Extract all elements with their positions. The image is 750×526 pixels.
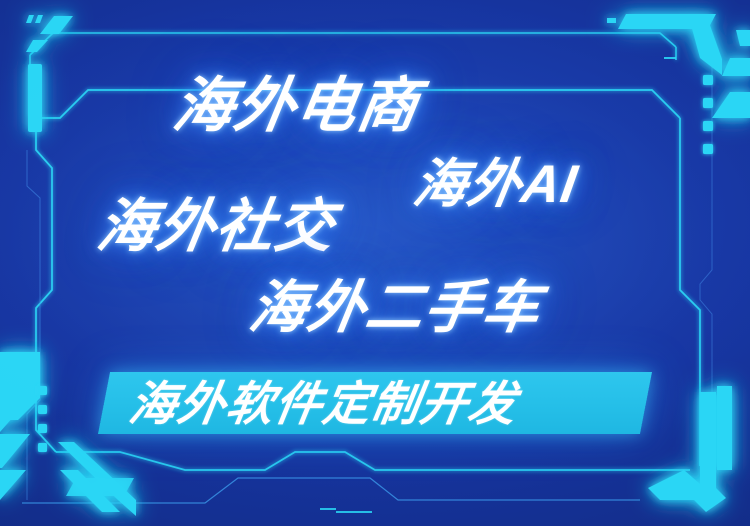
headline-group: 海外电商 海外AI 海外社交 海外二手车 bbox=[0, 0, 750, 526]
headline-overseas-ai: 海外AI bbox=[410, 158, 582, 211]
headline-overseas-ecommerce: 海外电商 bbox=[169, 76, 423, 136]
banner-canvas: 海外电商 海外AI 海外社交 海外二手车 海外软件定制开发 bbox=[0, 0, 750, 526]
headline-overseas-used-car: 海外二手车 bbox=[245, 280, 545, 337]
headline-overseas-social: 海外社交 bbox=[93, 198, 339, 256]
cta-banner-label: 海外软件定制开发 bbox=[126, 378, 634, 428]
